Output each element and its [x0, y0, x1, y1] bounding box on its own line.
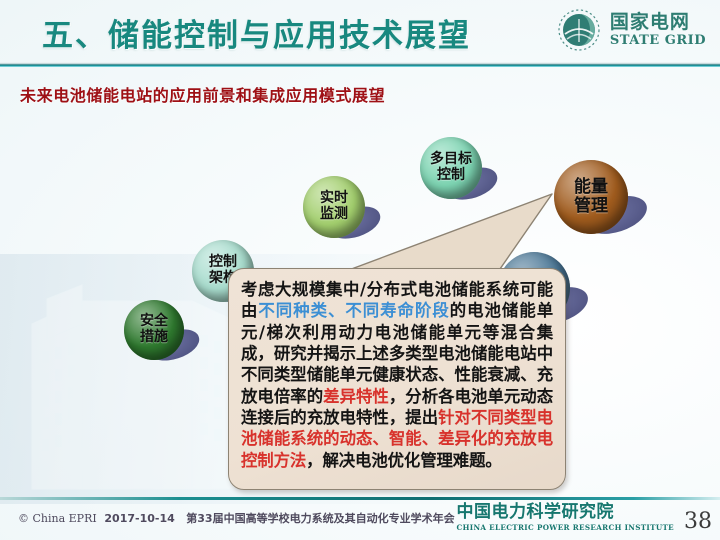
footer-divider	[0, 497, 720, 500]
page-title: 五、储能控制与应用技术展望	[42, 10, 471, 55]
bubble-node-safety-measures[interactable]: 安全措施	[124, 300, 184, 360]
bubble-sphere: 安全措施	[124, 300, 184, 360]
callout-textbox: 考虑大规模集中/分布式电池储能系统可能由不同种类、不同寿命阶段的电池储能单元/梯…	[228, 268, 566, 490]
institute-name-en: CHINA ELECTRIC POWER RESEARCH INSTITUTE	[457, 523, 674, 532]
section-subtitle: 未来电池储能电站的应用前景和集成应用模式展望	[20, 82, 385, 106]
footer-conference: 第33届中国高等学校电力系统及其自动化专业学术年会	[186, 512, 454, 525]
footer-date: 2017-10-14	[104, 512, 174, 525]
bubble-label: 安全措施	[140, 314, 168, 345]
callout-highlight-blue: 不同种类、不同寿命阶段	[258, 301, 449, 320]
callout-text: ，解决电池优化管理难题。	[306, 451, 502, 470]
state-grid-emblem-icon	[557, 8, 601, 52]
institute-name-cn: 中国电力科学研究院	[457, 504, 674, 521]
institute-logo: 中国电力科学研究院 CHINA ELECTRIC POWER RESEARCH …	[457, 504, 674, 532]
page-number: 38	[684, 509, 712, 534]
bubble-label: 多目标控制	[430, 152, 472, 183]
slide-header: 五、储能控制与应用技术展望 国家电网 STATE GRID	[0, 0, 720, 62]
brand-name-en: STATE GRID	[610, 34, 706, 47]
footer-copyright: © China EPRI	[18, 512, 97, 525]
footer-credits: © China EPRI 2017-10-14 第33届中国高等学校电力系统及其…	[18, 510, 455, 526]
callout-paragraph: 考虑大规模集中/分布式电池储能系统可能由不同种类、不同寿命阶段的电池储能单元/梯…	[241, 279, 553, 471]
header-divider	[0, 62, 720, 67]
brand-name-cn: 国家电网	[610, 13, 706, 32]
callout-highlight-red: 差异特性	[323, 387, 389, 406]
state-grid-logo: 国家电网 STATE GRID	[557, 8, 706, 52]
slide-canvas: 五、储能控制与应用技术展望 国家电网 STATE GRID 未来电池储能电站的应…	[0, 0, 720, 540]
